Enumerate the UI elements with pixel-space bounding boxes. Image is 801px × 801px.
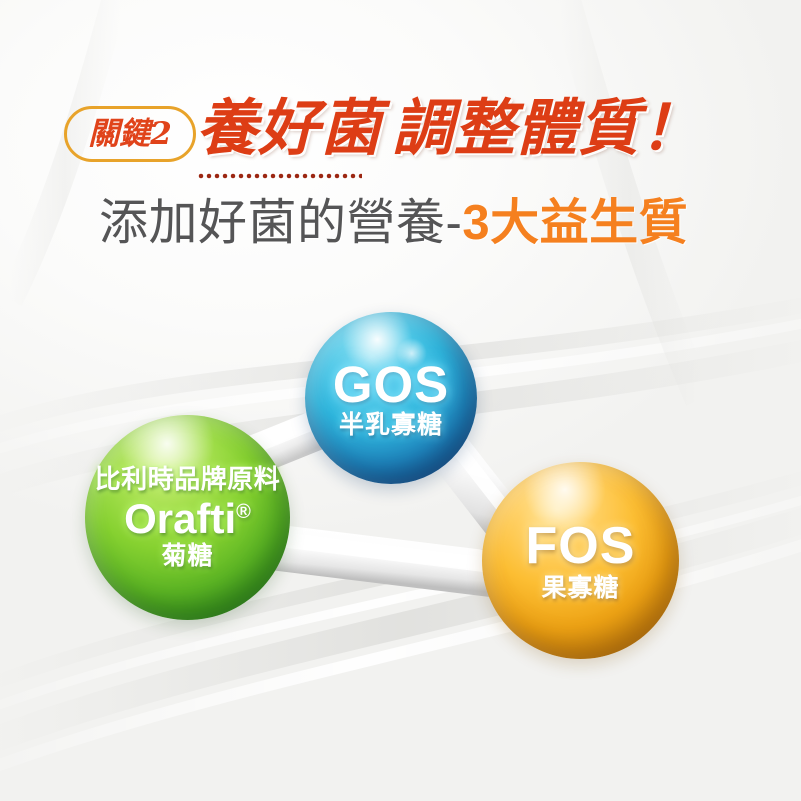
headline-part-two: 調整體質！ [392,94,702,162]
sphere-fos-subtitle: 果寡糖 [541,576,619,601]
sphere-gos: GOS 半乳寡糖 [305,312,477,484]
sphere-fos: FOS 果寡糖 [482,462,679,659]
sphere-gos-subtitle: 半乳寡糖 [339,413,443,438]
page-subtitle: 添加好菌的營養-3大益生質 [99,195,688,251]
sphere-fos-title: FOS [526,520,636,572]
sphere-orafti-brand-label: Orafti® [124,498,251,540]
header-block: 關鍵2 養好菌調整體質！ 添加好菌的營養-3大益生質 [0,0,801,280]
sphere-gos-title: GOS [333,359,449,410]
sphere-orafti-origin-label: 比利時品牌原料 [95,466,281,492]
molecule-diagram: 比利時品牌原料 Orafti® 菊糖 FOS 果寡糖 GOS 半乳寡糖 [0,270,801,710]
sphere-orafti: 比利時品牌原料 Orafti® 菊糖 [85,415,290,620]
subtitle-gray-text: 添加好菌的營養- [99,196,462,250]
subtitle-orange-text: 3大益生質 [462,196,688,250]
headline-part-one: 養好菌 [196,94,382,162]
key-point-badge: 關鍵2 [64,106,196,162]
page-title: 養好菌調整體質！ [196,96,702,160]
key-point-badge-label: 關鍵2 [88,119,172,150]
registered-trademark-icon: ® [236,501,251,523]
sphere-orafti-brand-text: Orafti [124,495,236,542]
sphere-orafti-chinese-label: 菊糖 [161,544,213,569]
dotted-underline-rule [197,173,362,179]
poster-canvas: 關鍵2 養好菌調整體質！ 添加好菌的營養-3大益生質 [0,0,801,801]
